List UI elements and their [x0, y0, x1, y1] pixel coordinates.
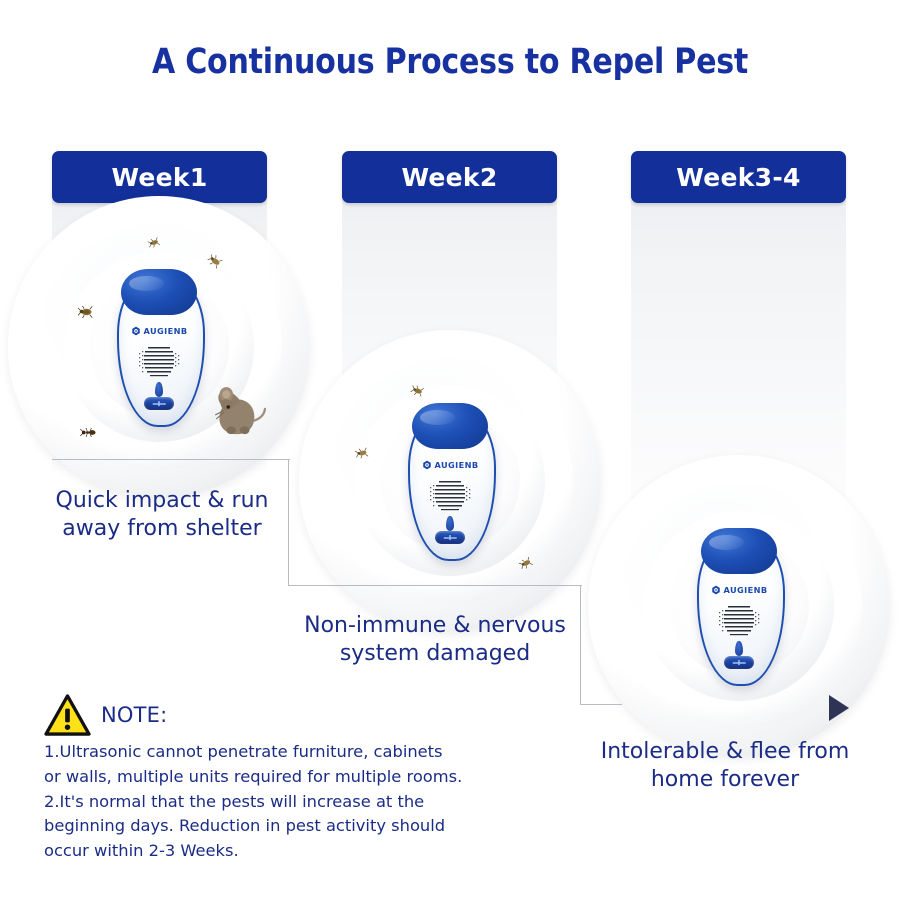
connector-week3-4 — [580, 704, 622, 705]
speaker-grille-icon — [716, 604, 762, 638]
device-brand-logo: AUGIENB — [117, 326, 201, 336]
week-tab-week2[interactable]: Week2 — [342, 151, 557, 203]
play-triangle-icon[interactable] — [829, 695, 849, 721]
hexagon-gear-icon — [711, 585, 721, 595]
repeller-device-week2[interactable]: AUGIENB — [408, 405, 492, 557]
rat-icon — [204, 376, 266, 438]
device-brand-name: AUGIENB — [435, 461, 479, 469]
device-brand-logo: AUGIENB — [408, 460, 492, 470]
device-brand-name: AUGIENB — [144, 327, 188, 335]
week-tab-label-week2: Week2 — [401, 163, 497, 192]
speaker-grille-icon — [427, 479, 473, 513]
week-tab-week3-4[interactable]: Week3-4 — [631, 151, 846, 203]
connector-week1 — [52, 459, 290, 460]
connector-week2-drop — [580, 585, 581, 705]
week-tab-label-week1: Week1 — [111, 163, 207, 192]
note-block: NOTE: 1.Ultrasonic cannot penetrate furn… — [44, 693, 474, 864]
note-header: NOTE: — [44, 693, 474, 737]
ant-icon — [80, 428, 96, 437]
page-title: A Continuous Process to Repel Pest — [63, 42, 837, 82]
device-top-cap — [701, 528, 777, 574]
warning-triangle-icon — [44, 694, 91, 736]
led-indicator — [446, 516, 454, 531]
infographic-canvas: A Continuous Process to Repel Pest Week1… — [0, 0, 900, 900]
repeller-assembly-week1: AUGIENB — [8, 196, 310, 498]
hexagon-gear-icon — [422, 460, 432, 470]
week-tab-label-week3-4: Week3-4 — [676, 163, 801, 192]
repeller-device-week3-4[interactable]: AUGIENB — [697, 530, 781, 682]
cockroach-icon — [78, 306, 95, 318]
caption-week1: Quick impact & run away from shelter — [42, 487, 282, 543]
caption-week2: Non-immune & nervous system damaged — [290, 612, 580, 668]
caption-week3-4: Intolerable & flee from home forever — [580, 738, 870, 794]
device-brand-name: AUGIENB — [724, 586, 768, 594]
led-indicator — [155, 382, 163, 397]
note-label: NOTE: — [101, 703, 167, 727]
connector-week2 — [288, 585, 582, 586]
speaker-grille-icon — [136, 345, 182, 379]
device-top-cap — [121, 269, 197, 315]
note-text: 1.Ultrasonic cannot penetrate furniture,… — [44, 740, 474, 864]
device-brand-logo: AUGIENB — [697, 585, 781, 595]
repeller-device-week1[interactable]: AUGIENB — [117, 271, 201, 423]
led-indicator — [735, 641, 743, 656]
connector-week1-drop — [288, 459, 289, 586]
power-button[interactable] — [724, 656, 754, 669]
power-button[interactable] — [435, 531, 465, 544]
hexagon-gear-icon — [131, 326, 141, 336]
repeller-assembly-week2: AUGIENB — [299, 330, 601, 632]
power-button[interactable] — [144, 397, 174, 410]
device-top-cap — [412, 403, 488, 449]
